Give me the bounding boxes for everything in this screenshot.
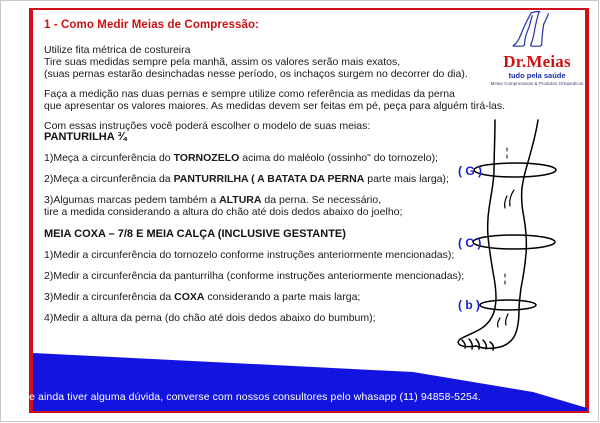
diagram-label-g: ( G ) — [458, 164, 482, 178]
section-2-heading: MEIA COXA – 7/8 E MEIA CALÇA (INCLUSIVE … — [44, 228, 346, 240]
paragraph2-line-2: que apresentar os valores maiores. As me… — [44, 100, 505, 113]
logo-subtitle: Meias Compressivas & Produtos Ortopedico… — [487, 81, 587, 87]
footer-contact-text: Se ainda tiver alguma dúvida, converse c… — [22, 391, 481, 403]
page-title: 1 - Como Medir Meias de Compressão: — [44, 19, 259, 31]
intro-line-1: Utilize fita métrica de costureira — [44, 44, 190, 57]
section-1-item-3-cont: tire a medida considerando a altura do c… — [44, 206, 402, 219]
section-1-heading: PANTURILHA ¾ — [44, 131, 127, 143]
logo-tagline: tudo pela saúde — [487, 71, 587, 80]
logo-name: Dr.Meias — [487, 53, 587, 70]
paragraph2-line-1: Faça a medição nas duas pernas e sempre … — [44, 88, 455, 101]
section-2-item-1: 1)Medir a circunferência do tornozelo co… — [44, 249, 454, 262]
page-root: 1 - Como Medir Meias de Compressão: Util… — [0, 0, 600, 423]
legs-icon — [487, 10, 587, 50]
section-1-item-2: 2)Meça a circunferência da PANTURRILHA (… — [44, 173, 449, 186]
section-2-item-3: 3)Medir a circunferência da COXA conside… — [44, 291, 360, 304]
brand-logo: Dr.Meias tudo pela saúde Meias Compressi… — [487, 10, 587, 88]
intro-line-3: (suas pernas estarão desinchadas nesse p… — [44, 68, 468, 81]
diagram-label-b: ( b ) — [458, 298, 480, 312]
section-1-item-3: 3)Algumas marcas pedem também a ALTURA d… — [44, 194, 381, 207]
measure-ring-ankle — [480, 300, 536, 310]
measure-ring-calf — [473, 235, 555, 249]
measure-ring-thigh — [474, 163, 556, 177]
section-2-item-2: 2)Medir a circunferência da panturrilha … — [44, 270, 464, 283]
section-1-item-1: 1)Meça a circunferência do TORNOZELO aci… — [44, 152, 438, 165]
intro-line-2: Tire suas medidas sempre pela manhã, ass… — [44, 56, 400, 69]
section-2-item-4: 4)Medir a altura da perna (do chão até d… — [44, 312, 376, 325]
diagram-label-c: ( C ) — [458, 236, 481, 250]
